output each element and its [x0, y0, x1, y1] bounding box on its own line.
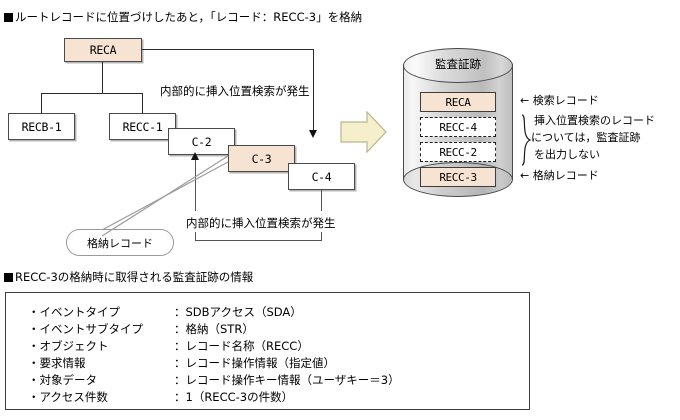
table-row: ・対象データ ：レコード操作キー情報（ユーザキー＝3）	[28, 372, 529, 389]
note-brace-line-2: については，監査証跡	[531, 130, 640, 145]
info-key: ・対象データ	[28, 372, 174, 389]
cylinder-record-reca-label: RECA	[446, 96, 471, 109]
bullet-square-icon	[4, 13, 13, 22]
table-row: ・オブジェクト ：レコード名称（RECC）	[28, 338, 529, 355]
connector-to-recc1	[142, 93, 143, 113]
connector-bracket-right-riser	[321, 190, 322, 211]
top-section-heading: ルートレコードに位置づけしたあと，「レコード：RECC-3」を格納	[4, 10, 362, 24]
info-key: ・要求情報	[28, 355, 174, 372]
bottom-heading-text: RECC-3の格納時に取得される監査証跡の情報	[15, 270, 253, 284]
connector-reca-to-c4-vertical	[313, 49, 314, 130]
table-row: ・アクセス件数 ：1（RECC-3の件数）	[28, 389, 529, 406]
table-row: ・イベントサブタイプ ：格納（STR）	[28, 321, 529, 338]
bullet-square-icon-2	[4, 273, 13, 282]
table-row: ・イベントタイプ ：SDBアクセス（SDA）	[28, 304, 529, 321]
info-value: ：レコード操作キー情報（ユーザキー＝3）	[174, 372, 400, 389]
info-key: ・アクセス件数	[28, 389, 174, 406]
info-value: ：1（RECC-3の件数）	[174, 389, 293, 406]
audit-info-table: ・イベントタイプ ：SDBアクセス（SDA） ・イベントサブタイプ ：格納（ST…	[5, 292, 530, 410]
info-value: ：レコード名称（RECC）	[174, 338, 309, 355]
node-recc-1[interactable]: RECC-1	[109, 113, 176, 140]
connector-reca-stem	[102, 62, 103, 94]
note-store-record: ← 格納レコード	[520, 168, 599, 183]
info-key: ・オブジェクト	[28, 338, 174, 355]
info-value: ：SDBアクセス（SDA）	[174, 304, 302, 321]
bracket-bottom-bar	[195, 240, 322, 241]
leader-lines-callout-to-c3	[100, 150, 260, 238]
info-value: ：レコード操作情報（指定値）	[174, 355, 335, 372]
node-recb-1[interactable]: RECB-1	[8, 113, 75, 140]
cylinder-record-recc-4[interactable]: RECC-4	[420, 117, 496, 137]
note-brace-line-1: 挿入位置検索のレコード	[534, 113, 655, 128]
cylinder-record-recc-2-label: RECC-2	[439, 146, 476, 159]
cylinder-record-recc-2[interactable]: RECC-2	[420, 142, 496, 162]
flow-block-arrow-icon	[340, 110, 388, 154]
note-brace-line-3: を出力しない	[534, 147, 600, 162]
arrowhead-into-c4	[309, 130, 317, 138]
info-value: ：格納（STR）	[174, 321, 254, 338]
node-recb-1-label: RECB-1	[22, 120, 62, 134]
table-row: ・要求情報 ：レコード操作情報（指定値）	[28, 355, 529, 372]
cylinder-record-reca[interactable]: RECA	[420, 92, 496, 112]
bracket-right-tick	[321, 232, 322, 241]
cylinder-title: 監査証跡	[403, 56, 513, 72]
info-key: ・イベントサブタイプ	[28, 321, 174, 338]
connector-to-recb1	[41, 93, 42, 113]
node-reca-label: RECA	[90, 43, 117, 57]
node-c-4[interactable]: C-4	[288, 163, 355, 190]
cylinder-record-recc-3[interactable]: RECC-3	[420, 167, 496, 187]
note-search-record: ← 検索レコード	[520, 93, 599, 108]
annotation-internal-search-top: 内部的に挿入位置検索が発生	[160, 84, 310, 99]
connector-branch-bar	[41, 93, 143, 94]
top-heading-text: ルートレコードに位置づけしたあと，「レコード：RECC-3」を格納	[15, 10, 362, 24]
node-c-2-label: C-2	[192, 135, 212, 149]
cylinder-record-recc-3-label: RECC-3	[439, 171, 476, 184]
bottom-section-heading: RECC-3の格納時に取得される監査証跡の情報	[4, 270, 253, 284]
node-c-4-label: C-4	[312, 170, 332, 184]
node-reca[interactable]: RECA	[64, 38, 142, 62]
node-recc-1-label: RECC-1	[123, 120, 163, 134]
cylinder-record-recc-4-label: RECC-4	[439, 121, 476, 134]
audit-trail-cylinder: 監査証跡 RECA RECC-4 RECC-2 RECC-3	[403, 48, 513, 196]
connector-reca-to-c4-horizontal	[142, 49, 314, 50]
info-key: ・イベントタイプ	[28, 304, 174, 321]
